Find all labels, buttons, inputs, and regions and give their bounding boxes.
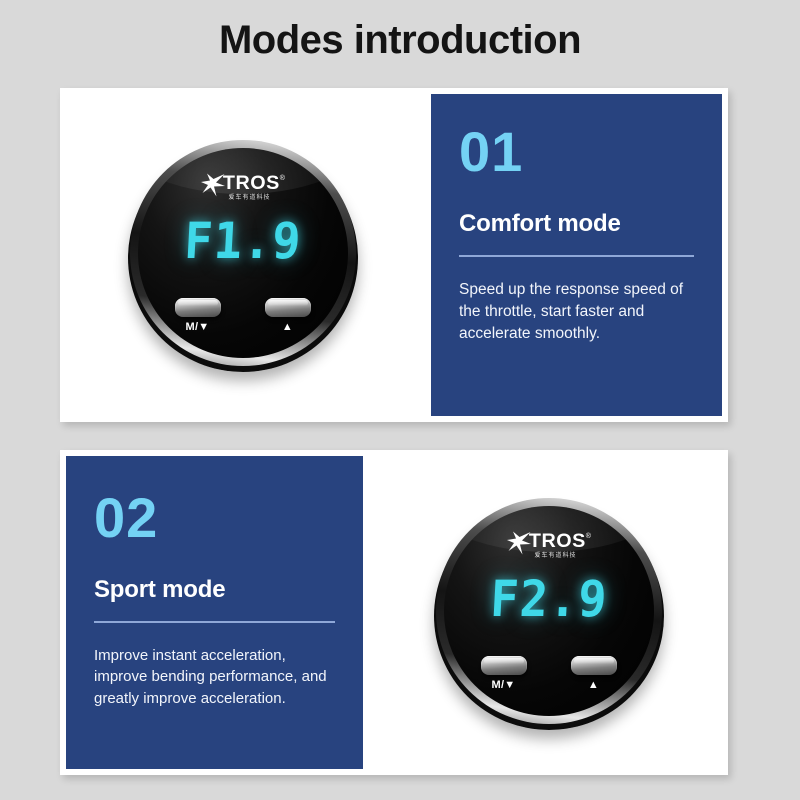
throttle-controller-device: TROS ® 爱车有道科技 F2.9 M/▼ <box>434 498 664 728</box>
mode-card-sport: 02 Sport mode Improve instant accelerati… <box>60 450 728 775</box>
up-button[interactable]: ▲ <box>263 298 313 333</box>
brand-wordmark: TROS <box>529 532 586 551</box>
registered-trademark-icon: ® <box>280 175 285 182</box>
mode-title: Sport mode <box>94 576 335 604</box>
device-stage: TROS ® 爱车有道科技 F1.9 M/▼ <box>60 88 425 422</box>
seven-segment-display: F1.9 <box>138 212 348 270</box>
button-cap[interactable] <box>571 656 617 675</box>
mode-title: Comfort mode <box>459 210 694 238</box>
device-panel-sport: TROS ® 爱车有道科技 F2.9 M/▼ <box>369 450 728 775</box>
mode-down-button[interactable]: M/▼ <box>173 298 223 333</box>
mode-card-comfort: TROS ® 爱车有道科技 F1.9 M/▼ <box>60 88 728 422</box>
seven-segment-display: F2.9 <box>444 570 654 628</box>
brand-subtext: 爱车有道科技 <box>444 550 654 559</box>
device-button-row: M/▼ ▲ <box>444 656 654 691</box>
product-infographic: Modes introduction TROS ® <box>0 0 800 800</box>
registered-trademark-icon: ® <box>586 533 591 540</box>
mode-number: 02 <box>94 490 335 546</box>
device-panel-comfort: TROS ® 爱车有道科技 F1.9 M/▼ <box>60 88 425 422</box>
mode-down-button-label: M/▼ <box>173 322 223 333</box>
mode-down-button-label: M/▼ <box>479 680 529 691</box>
mode-description: Speed up the response speed of the throt… <box>459 279 694 345</box>
up-button-label: ▲ <box>569 680 619 691</box>
page-title: Modes introduction <box>0 18 800 63</box>
mode-description: Improve instant acceleration, improve be… <box>94 645 335 709</box>
device-face: TROS ® 爱车有道科技 F2.9 M/▼ <box>444 506 654 716</box>
throttle-controller-device: TROS ® 爱车有道科技 F1.9 M/▼ <box>128 140 358 370</box>
up-button-label: ▲ <box>263 322 313 333</box>
device-button-row: M/▼ ▲ <box>138 298 348 333</box>
divider <box>459 255 694 257</box>
brand-subtext: 爱车有道科技 <box>138 192 348 201</box>
device-face: TROS ® 爱车有道科技 F1.9 M/▼ <box>138 148 348 358</box>
mode-down-button[interactable]: M/▼ <box>479 656 529 691</box>
info-panel-sport: 02 Sport mode Improve instant accelerati… <box>66 456 363 769</box>
info-panel-comfort: 01 Comfort mode Speed up the response sp… <box>431 94 722 416</box>
button-cap[interactable] <box>265 298 311 317</box>
up-button[interactable]: ▲ <box>569 656 619 691</box>
info-panel-wrap-comfort: 01 Comfort mode Speed up the response sp… <box>425 88 728 422</box>
brand-wordmark: TROS <box>223 174 280 193</box>
divider <box>94 621 335 623</box>
info-panel-wrap-sport: 02 Sport mode Improve instant accelerati… <box>60 450 369 775</box>
button-cap[interactable] <box>481 656 527 675</box>
mode-number: 01 <box>459 124 694 180</box>
button-cap[interactable] <box>175 298 221 317</box>
device-stage: TROS ® 爱车有道科技 F2.9 M/▼ <box>369 450 728 775</box>
